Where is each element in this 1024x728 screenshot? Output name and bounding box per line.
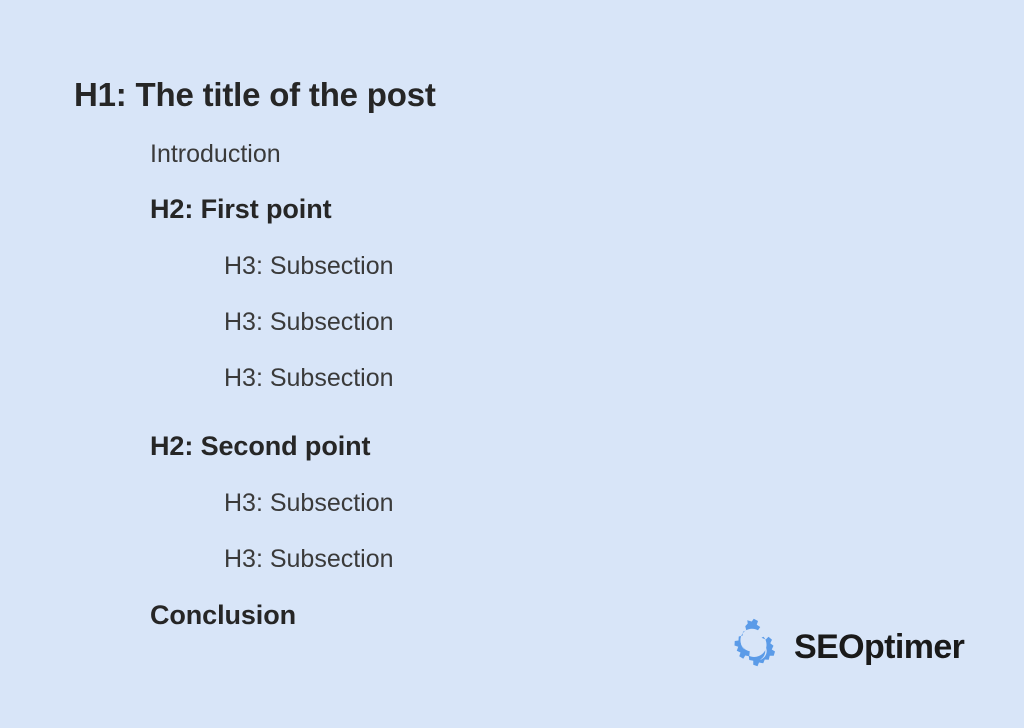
interlocking-gears-icon	[725, 618, 785, 676]
outline-line-h3-8: H3: Subsection	[224, 547, 394, 572]
seoptimer-logo: SEOptimer	[725, 618, 964, 676]
outline-line-h2-6: H2: Second point	[150, 433, 370, 460]
outline-line-body-1: Introduction	[150, 142, 281, 167]
seoptimer-wordmark: SEOptimer	[794, 630, 964, 664]
outline-line-h2-9: Conclusion	[150, 602, 296, 629]
outline-line-h3-5: H3: Subsection	[224, 366, 394, 391]
outline-line-h3-7: H3: Subsection	[224, 491, 394, 516]
slide-canvas: H1: The title of the postIntroductionH2:…	[0, 0, 1024, 728]
outline-line-h2-2: H2: First point	[150, 196, 332, 223]
outline-line-h1-0: H1: The title of the post	[74, 78, 436, 111]
outline-line-h3-4: H3: Subsection	[224, 310, 394, 335]
outline-line-h3-3: H3: Subsection	[224, 254, 394, 279]
